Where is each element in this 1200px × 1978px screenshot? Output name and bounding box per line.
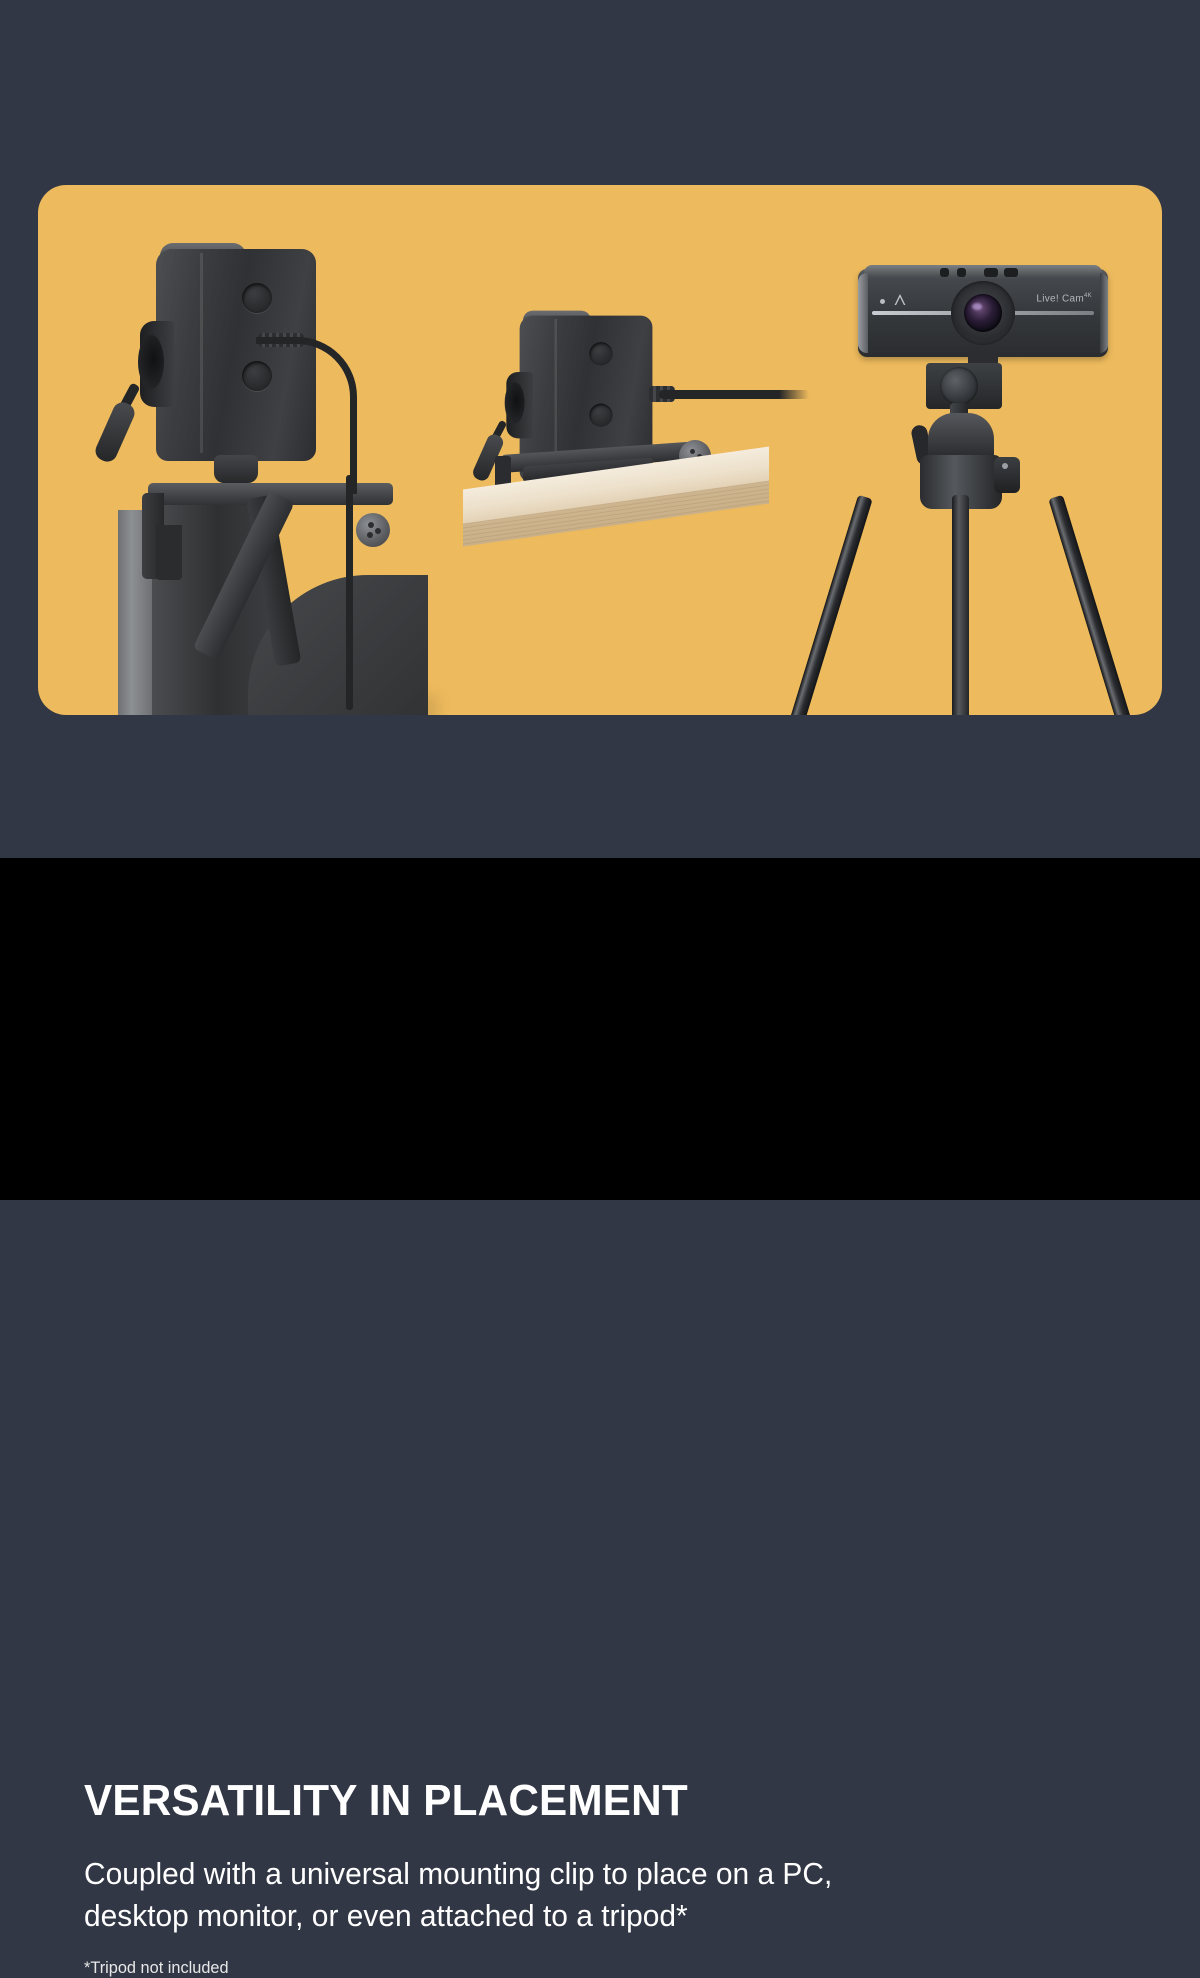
button-left[interactable] — [984, 268, 998, 277]
webcam-lens-glass — [964, 294, 1002, 332]
status-led-indicator — [880, 299, 885, 304]
webcam-pivot-joint — [214, 455, 258, 483]
tripod-lock-knob — [994, 457, 1020, 493]
usb-cable-run — [659, 390, 809, 399]
webcam-right-edge — [1100, 273, 1108, 353]
webcam-seam — [200, 253, 203, 453]
usb-cable-run — [346, 475, 353, 710]
body-copy: Coupled with a universal mounting clip t… — [84, 1853, 885, 1937]
marketing-slide: Live! Cam4K VERSATI — [0, 0, 1200, 1200]
scene-tripod: Live! Cam4K — [798, 265, 1148, 715]
mounting-clip-hook-inner — [156, 525, 182, 580]
body-copy-line-2: desktop monitor, or even attached to a t… — [84, 1895, 885, 1937]
headline: VERSATILITY IN PLACEMENT — [84, 1776, 688, 1826]
button-mic[interactable] — [940, 268, 949, 277]
webcam-rear-port-lower — [589, 404, 612, 427]
webcam-rear-port-upper — [589, 342, 612, 365]
webcam-front-view: Live! Cam4K — [858, 265, 1108, 365]
webcam-lens-ring — [505, 382, 525, 424]
product-usage-panel: Live! Cam4K — [38, 185, 1162, 715]
product-brand-label: Live! Cam4K — [1036, 293, 1092, 304]
tripod-thread-socket-icon — [356, 513, 390, 547]
webcam-rear-port-upper — [242, 283, 272, 313]
tripod-leg-center — [952, 495, 969, 715]
tripod-leg-right — [1048, 495, 1147, 715]
webcam-left-edge — [858, 273, 868, 353]
webcam-top-buttons[interactable] — [940, 268, 1018, 277]
webcam-lens-glint — [972, 303, 982, 310]
creative-triangle-logo — [892, 292, 908, 308]
webcam-side-view — [508, 311, 657, 460]
body-copy-line-1: Coupled with a universal mounting clip t… — [84, 1856, 832, 1891]
scene-monitor — [98, 225, 428, 715]
usb-cable-bend — [256, 337, 357, 494]
button-right[interactable] — [1004, 268, 1018, 277]
webcam-lens-ring — [138, 335, 164, 389]
tripod-plate-dial — [940, 367, 978, 405]
caption-band: VERSATILITY IN PLACEMENT Coupled with a … — [0, 858, 1200, 1200]
footnote: *Tripod not included — [84, 1958, 229, 1978]
scene-desk — [463, 270, 803, 590]
button-zoom[interactable] — [957, 268, 966, 277]
hero-section: Live! Cam4K — [0, 0, 1200, 858]
brand-text: Live! Cam — [1036, 293, 1084, 304]
privacy-lens-cover — [92, 399, 137, 465]
brand-suffix: 4K — [1084, 293, 1092, 299]
